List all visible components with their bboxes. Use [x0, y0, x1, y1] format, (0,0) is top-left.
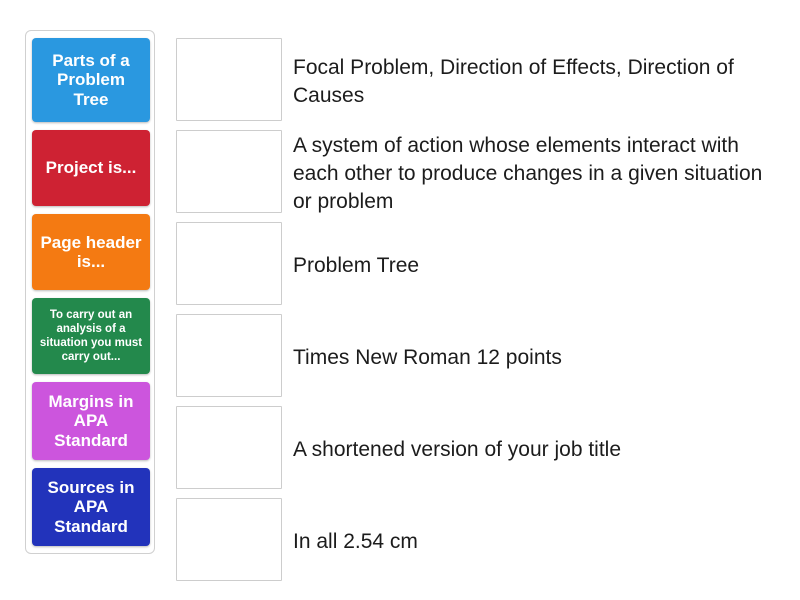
- answer-text: A shortened version of your job title: [293, 436, 786, 464]
- dropzone-problem-tree[interactable]: [176, 222, 282, 305]
- answer-text: Problem Tree: [293, 252, 786, 280]
- draggable-tile-margins-in-apa-standard[interactable]: Margins in APA Standard: [32, 382, 150, 460]
- dropzone-times-new-roman[interactable]: [176, 314, 282, 397]
- answer-row: Times New Roman 12 points: [176, 314, 786, 402]
- answer-row: In all 2.54 cm: [176, 498, 786, 586]
- answer-row: A shortened version of your job title: [176, 406, 786, 494]
- dropzone-focal-problem[interactable]: [176, 38, 282, 121]
- answer-text: Times New Roman 12 points: [293, 344, 786, 372]
- tile-label: Sources in APA Standard: [38, 478, 144, 535]
- tile-label: Parts of a Problem Tree: [38, 51, 144, 108]
- tile-label: To carry out an analysis of a situation …: [38, 308, 144, 364]
- answers-list: Focal Problem, Direction of Effects, Dir…: [176, 38, 786, 586]
- dropzone-system-of-action[interactable]: [176, 130, 282, 213]
- draggable-tile-parts-of-a-problem-tree[interactable]: Parts of a Problem Tree: [32, 38, 150, 122]
- match-up-activity: Parts of a Problem Tree Project is... Pa…: [0, 0, 800, 600]
- draggable-tile-sources-in-apa-standard[interactable]: Sources in APA Standard: [32, 468, 150, 546]
- tile-label: Margins in APA Standard: [38, 392, 144, 449]
- answer-text: Focal Problem, Direction of Effects, Dir…: [293, 54, 786, 109]
- draggable-tile-page-header-is[interactable]: Page header is...: [32, 214, 150, 290]
- draggable-tile-project-is[interactable]: Project is...: [32, 130, 150, 206]
- tile-label: Page header is...: [38, 233, 144, 271]
- answer-text: A system of action whose elements intera…: [293, 132, 786, 215]
- answer-row: Problem Tree: [176, 222, 786, 310]
- draggable-tile-to-carry-out-an-analysis[interactable]: To carry out an analysis of a situation …: [32, 298, 150, 374]
- answer-text: In all 2.54 cm: [293, 528, 786, 556]
- draggable-tiles-panel: Parts of a Problem Tree Project is... Pa…: [25, 30, 155, 554]
- answer-row: Focal Problem, Direction of Effects, Dir…: [176, 38, 786, 126]
- dropzone-shortened-job-title[interactable]: [176, 406, 282, 489]
- tile-label: Project is...: [38, 158, 144, 177]
- dropzone-in-all-254-cm[interactable]: [176, 498, 282, 581]
- answer-row: A system of action whose elements intera…: [176, 130, 786, 218]
